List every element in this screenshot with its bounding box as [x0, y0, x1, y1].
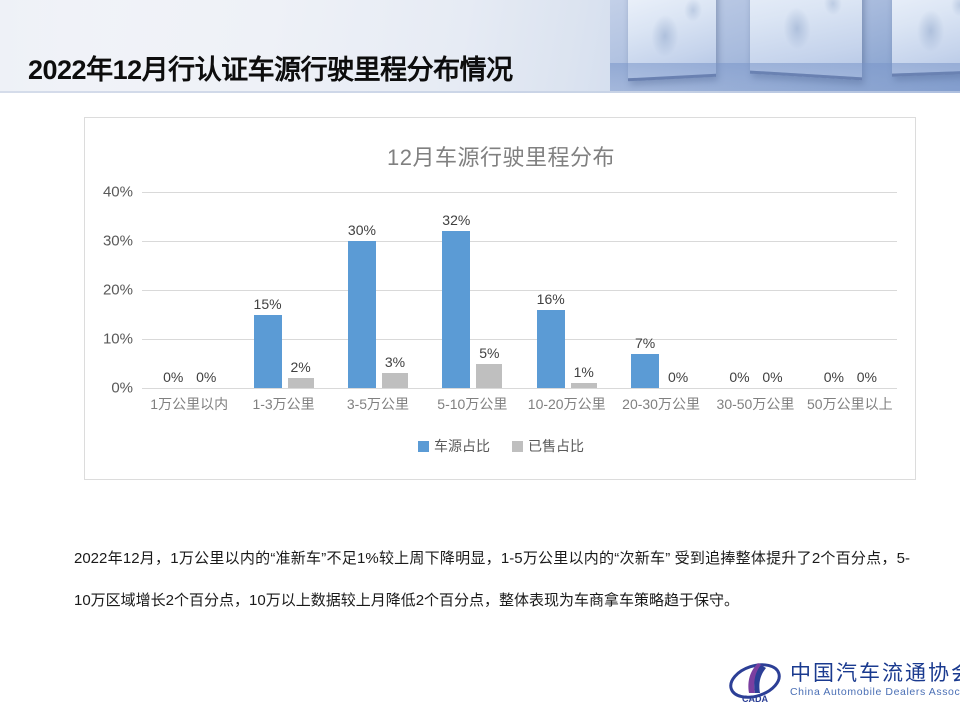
- chart-category-group: 16%1%: [520, 192, 614, 388]
- chart-bar-value-label: 0%: [668, 369, 688, 385]
- chart-bar-pair: 30%3%: [331, 192, 425, 388]
- commentary-paragraph: 2022年12月，1万公里以内的“准新车”不足1%较上周下降明显，1-5万公里以…: [74, 538, 910, 622]
- header-art-floor: [610, 63, 960, 93]
- chart-category-group: 7%0%: [614, 192, 708, 388]
- chart-bar-pair: 0%0%: [803, 192, 897, 388]
- chart-bar[interactable]: [442, 231, 470, 388]
- chart-bar-wrap: 1%: [571, 192, 597, 388]
- chart-x-axis-tick: 1万公里以内: [142, 394, 236, 414]
- chart-x-axis-tick: 1-3万公里: [236, 394, 330, 414]
- chart-legend-item[interactable]: 已售占比: [512, 436, 584, 456]
- chart-bars-layer: 0%0%15%2%30%3%32%5%16%1%7%0%0%0%0%0%: [142, 192, 897, 388]
- chart-y-axis-tick: 30%: [103, 233, 133, 250]
- organization-logo: CADA 中国汽车流通协会 China Automobile Dealers A…: [728, 655, 946, 707]
- chart-bar-wrap: 7%: [631, 192, 659, 388]
- logo-name-cn: 中国汽车流通协会: [790, 662, 960, 686]
- chart-bar-pair: 7%0%: [614, 192, 708, 388]
- chart-bar-pair: 32%5%: [425, 192, 519, 388]
- chart-x-axis-tick: 3-5万公里: [331, 394, 425, 414]
- chart-legend-item[interactable]: 车源占比: [418, 436, 490, 456]
- chart-bar-pair: 0%0%: [142, 192, 236, 388]
- chart-bar-value-label: 0%: [163, 369, 183, 385]
- chart-bar-wrap: 30%: [348, 192, 376, 388]
- chart-x-axis-tick: 50万公里以上: [803, 394, 897, 414]
- chart-bar[interactable]: [571, 383, 597, 388]
- chart-bar-value-label: 32%: [442, 212, 470, 228]
- chart-legend: 车源占比已售占比: [85, 436, 917, 456]
- chart-bar[interactable]: [348, 241, 376, 388]
- chart-bar-wrap: 2%: [288, 192, 314, 388]
- chart-legend-swatch: [512, 441, 523, 452]
- chart-bar[interactable]: [254, 315, 282, 389]
- chart-bar-wrap: 32%: [442, 192, 470, 388]
- chart-bar-value-label: 30%: [348, 222, 376, 238]
- chart-bar[interactable]: [631, 354, 659, 388]
- chart-x-axis-tick: 20-30万公里: [614, 394, 708, 414]
- logo-name-en: China Automobile Dealers Association: [790, 686, 960, 700]
- chart-bar-value-label: 2%: [290, 359, 310, 375]
- chart-gridline: 0%: [142, 388, 897, 389]
- chart-bar-wrap: 15%: [254, 192, 282, 388]
- chart-category-group: 32%5%: [425, 192, 519, 388]
- chart-legend-label: 已售占比: [528, 436, 584, 456]
- header-underline: [0, 91, 960, 93]
- chart-bar-wrap: 0%: [854, 192, 880, 388]
- chart-title: 12月车源行驶里程分布: [85, 140, 917, 172]
- chart-bar-pair: 15%2%: [236, 192, 330, 388]
- chart-bar[interactable]: [476, 364, 502, 389]
- chart-bar-wrap: 0%: [159, 192, 187, 388]
- logo-text-block: 中国汽车流通协会 China Automobile Dealers Associ…: [790, 662, 960, 700]
- chart-bar-value-label: 0%: [762, 369, 782, 385]
- chart-category-group: 0%0%: [142, 192, 236, 388]
- chart-x-axis-tick: 5-10万公里: [425, 394, 519, 414]
- chart-x-axis-labels: 1万公里以内1-3万公里3-5万公里5-10万公里10-20万公里20-30万公…: [142, 394, 897, 414]
- header-decoration-cubes: [610, 0, 960, 93]
- chart-category-group: 0%0%: [803, 192, 897, 388]
- chart-bar[interactable]: [288, 378, 314, 388]
- chart-bar-value-label: 15%: [254, 296, 282, 312]
- page-title: 2022年12月行认证车源行驶里程分布情况: [28, 48, 513, 87]
- chart-bar-value-label: 5%: [479, 345, 499, 361]
- chart-bar-value-label: 16%: [537, 291, 565, 307]
- chart-category-group: 30%3%: [331, 192, 425, 388]
- chart-y-axis-tick: 0%: [111, 380, 133, 397]
- cada-emblem-text: CADA: [742, 694, 768, 704]
- chart-bar-wrap: 0%: [193, 192, 219, 388]
- chart-bar-wrap: 0%: [759, 192, 785, 388]
- chart-category-group: 15%2%: [236, 192, 330, 388]
- chart-bar-value-label: 7%: [635, 335, 655, 351]
- chart-bar-value-label: 3%: [385, 354, 405, 370]
- chart-bar-wrap: 5%: [476, 192, 502, 388]
- chart-bar-value-label: 0%: [857, 369, 877, 385]
- chart-y-axis-tick: 20%: [103, 282, 133, 299]
- chart-bar[interactable]: [382, 373, 408, 388]
- chart-x-axis-tick: 30-50万公里: [708, 394, 802, 414]
- chart-bar-value-label: 0%: [196, 369, 216, 385]
- chart-bar-pair: 16%1%: [520, 192, 614, 388]
- chart-category-group: 0%0%: [708, 192, 802, 388]
- chart-legend-swatch: [418, 441, 429, 452]
- chart-bar[interactable]: [537, 310, 565, 388]
- chart-y-axis-tick: 40%: [103, 184, 133, 201]
- chart-bar-value-label: 0%: [824, 369, 844, 385]
- chart-bar-wrap: 16%: [537, 192, 565, 388]
- chart-bar-value-label: 1%: [574, 364, 594, 380]
- chart-panel: 12月车源行驶里程分布 0%10%20%30%40% 0%0%15%2%30%3…: [84, 117, 916, 480]
- chart-bar-value-label: 0%: [729, 369, 749, 385]
- cada-emblem-icon: CADA: [728, 657, 782, 705]
- chart-bar-wrap: 0%: [665, 192, 691, 388]
- chart-bar-pair: 0%0%: [708, 192, 802, 388]
- chart-bar-wrap: 3%: [382, 192, 408, 388]
- chart-y-axis-tick: 10%: [103, 331, 133, 348]
- chart-bar-wrap: 0%: [820, 192, 848, 388]
- chart-legend-label: 车源占比: [434, 436, 490, 456]
- chart-bar-wrap: 0%: [725, 192, 753, 388]
- chart-x-axis-tick: 10-20万公里: [520, 394, 614, 414]
